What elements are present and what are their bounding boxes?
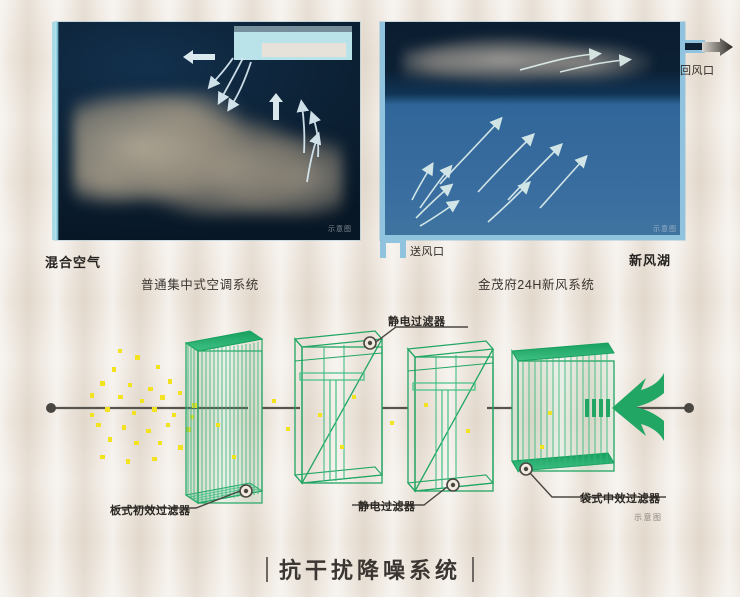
- return-air-arrow-icon: [700, 36, 740, 60]
- callout-electrostatic-filter-2: 静电过滤器: [358, 498, 416, 514]
- caption-conventional-system: 普通集中式空调系统: [141, 274, 259, 293]
- label-return-vent: 回风口: [680, 62, 715, 78]
- arrow-up-icon: [269, 93, 283, 120]
- badge-fresh-air-lake: 新风湖: [629, 250, 671, 269]
- callout-electrostatic-filter-1: 静电过滤器: [388, 313, 446, 329]
- arrow-left-icon: [183, 50, 215, 64]
- section-title-bar: 抗干扰降噪系统: [0, 549, 740, 589]
- callout-plate-primary-filter: 板式初效过滤器: [110, 502, 191, 518]
- right-panel-airflow: [380, 22, 685, 240]
- diagram-watermark: 示意图: [634, 512, 663, 523]
- label-supply-vent: 送风口: [410, 243, 445, 259]
- caption-fresh-air-system: 金茂府24H新风系统: [478, 274, 594, 293]
- title-divider-right: [472, 557, 474, 582]
- filter-electrostatic-2: [352, 341, 493, 505]
- badge-mixed-air: 混合空气: [45, 252, 101, 271]
- panel-right-watermark: 示意图: [653, 224, 677, 234]
- title-divider-left: [266, 557, 268, 582]
- supply-duct-right-pipe: [400, 240, 406, 258]
- dust-particles-inlet: [90, 349, 197, 464]
- callout-bag-medium-filter: 袋式中效过滤器: [580, 490, 661, 506]
- dust-particles-clean: [216, 395, 552, 459]
- page-background: 示意图: [0, 0, 740, 597]
- page-title: 抗干扰降噪系统: [279, 553, 461, 585]
- left-panel-airflow: [55, 22, 360, 240]
- panel-conventional-ac: 示意图: [55, 22, 360, 240]
- panel-left-watermark: 示意图: [328, 224, 352, 234]
- panel-fresh-air-system: 示意图: [380, 22, 685, 240]
